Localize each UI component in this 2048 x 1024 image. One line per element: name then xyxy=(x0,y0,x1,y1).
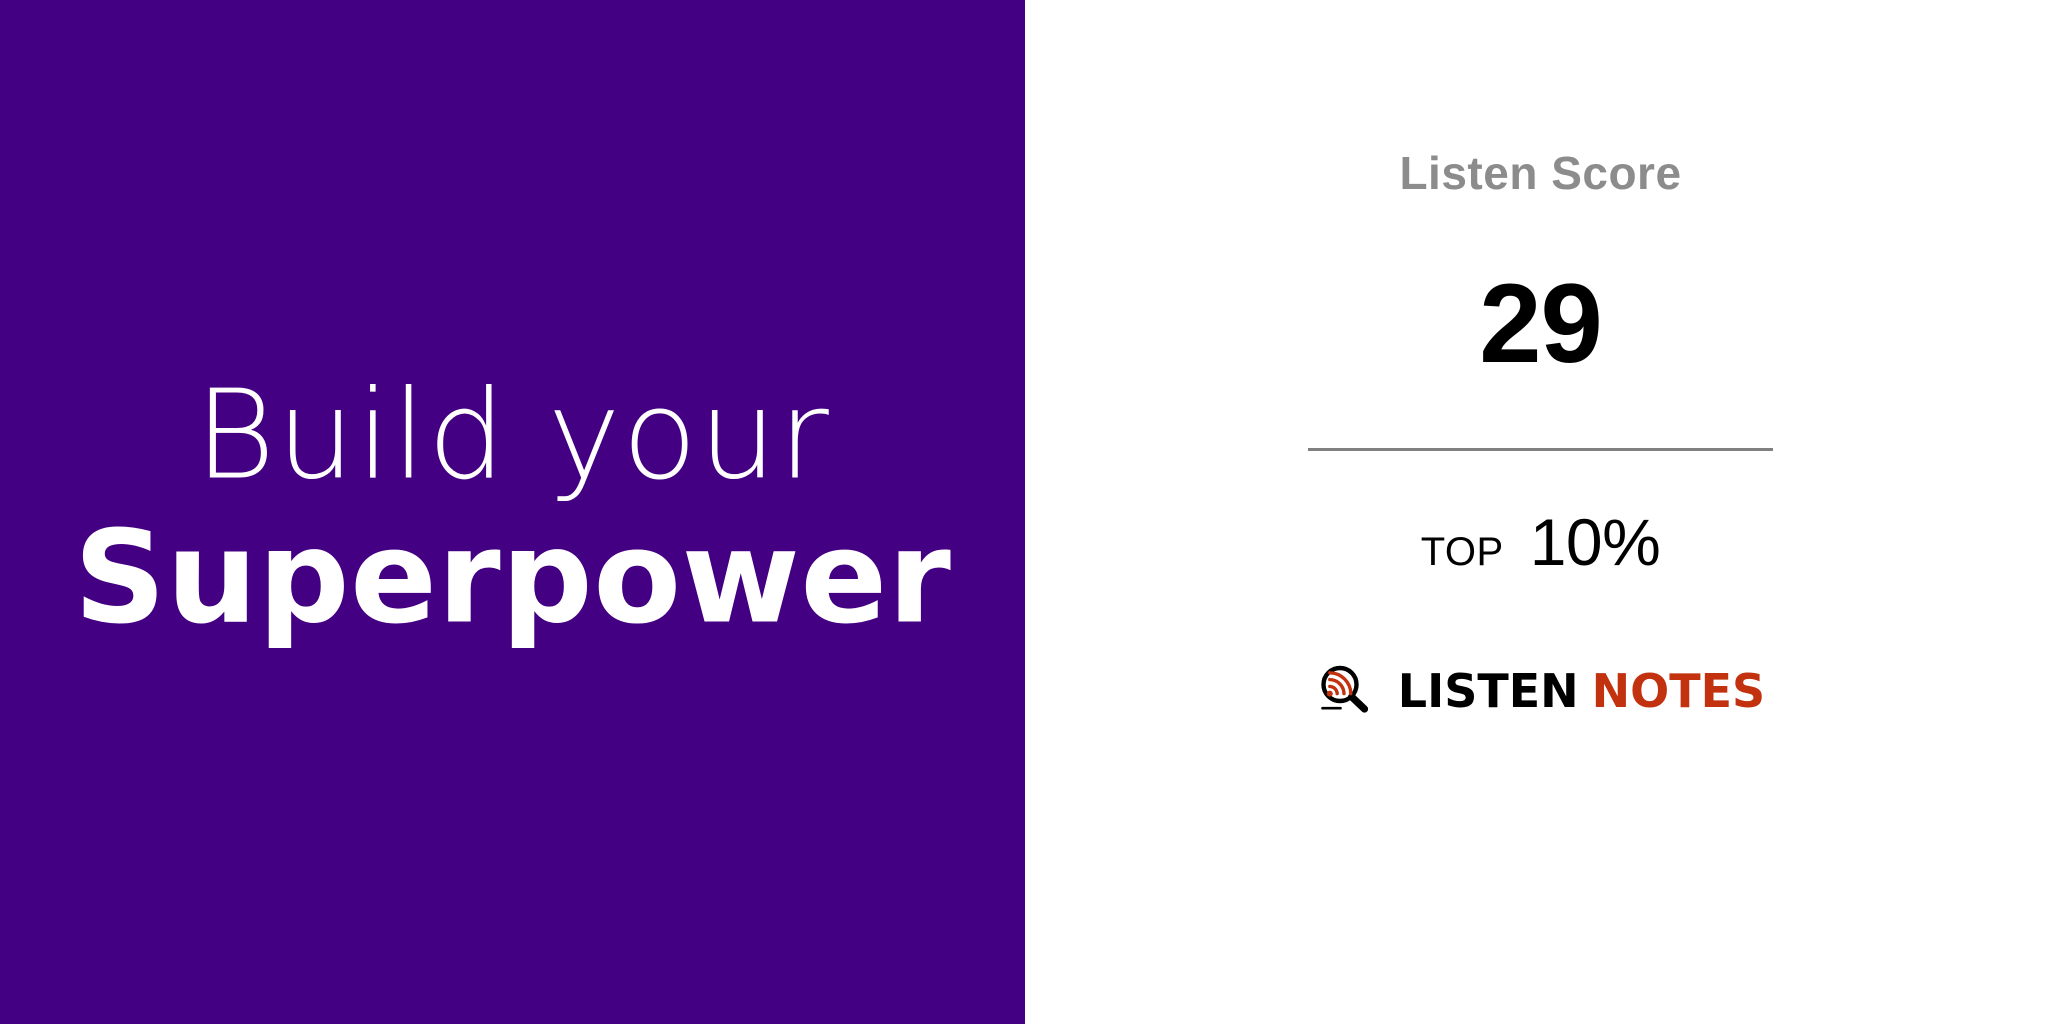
listen-score-card: Listen Score 29 TOP 10% xyxy=(1308,150,1773,719)
promo-headline-line-2: Superpower xyxy=(18,507,1007,650)
promo-panel: Build your Superpower xyxy=(0,0,1025,1024)
promo-headline-line-1: Build your xyxy=(18,374,1007,499)
promo-text-block: Build your Superpower xyxy=(0,374,1025,651)
listen-score-badge: Build your Superpower Listen Score 29 TO… xyxy=(0,0,2048,1024)
brand-word-listen: LISTEN xyxy=(1398,664,1579,718)
listen-score-title: Listen Score xyxy=(1308,150,1773,196)
brand-word-notes: NOTES xyxy=(1592,664,1766,718)
score-panel: Listen Score 29 TOP 10% xyxy=(1025,0,2048,1024)
rank-label: TOP xyxy=(1421,532,1504,572)
listennotes-wordmark: LISTENNOTES xyxy=(1398,668,1765,714)
listennotes-magnifier-rss-icon xyxy=(1316,663,1372,719)
rank-row: TOP 10% xyxy=(1308,509,1773,575)
listen-score-value: 29 xyxy=(1308,268,1773,380)
score-divider xyxy=(1308,448,1773,451)
rank-percentile-value: 10% xyxy=(1530,509,1661,575)
listennotes-brand[interactable]: LISTENNOTES xyxy=(1308,663,1773,719)
